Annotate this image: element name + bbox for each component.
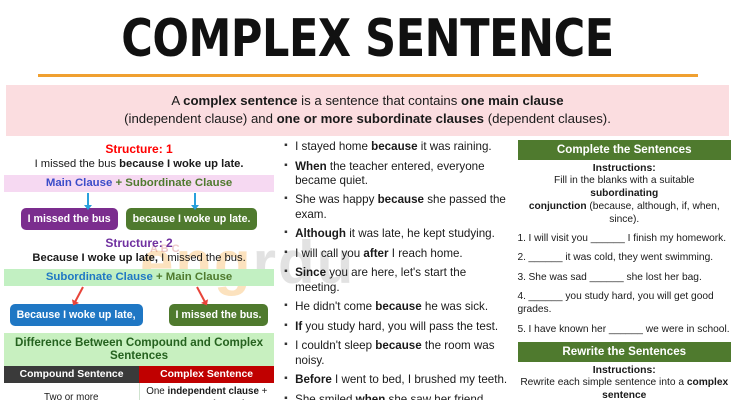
- complete-instructions-label: Instructions:: [518, 163, 732, 174]
- instr-a: Rewrite each simple sentence into a: [520, 377, 686, 388]
- rewrite-sentences-heading: Rewrite the Sentences: [518, 342, 732, 362]
- comparison-header-compound: Compound Sentence: [4, 366, 139, 383]
- structure-2-sentence-plain: I missed the bus.: [158, 252, 246, 264]
- item-text: ______ it was cold, they went swimming.: [529, 252, 714, 263]
- example-conjunction: Since: [295, 266, 326, 279]
- rewrite-instructions-label: Instructions:: [518, 365, 732, 376]
- worksheet-page: engrdu A B C COMPLEX SENTENCE A complex …: [0, 0, 735, 400]
- main-clause-box: I missed the bus: [21, 208, 118, 230]
- example-post: I went to bed, I brushed my teeth.: [332, 373, 507, 386]
- table-row: Two or moreindependent clauses One indep…: [4, 383, 274, 400]
- subordinate-clause-box: because I woke up late.: [126, 208, 258, 230]
- examples-list: I stayed home because it was raining. Wh…: [284, 140, 511, 400]
- list-item: She smiled when she saw her friend.: [284, 393, 511, 400]
- title-underline: [38, 74, 698, 77]
- item-text: She was sad ______ she lost her bag.: [529, 272, 702, 283]
- structure-2-bar-left: Subordinate Clause: [46, 271, 153, 283]
- item-text: ______ you study hard, you will get good…: [518, 291, 714, 315]
- cell-text-b: independent clause: [167, 386, 258, 397]
- item-text: I have known her ______ we were in schoo…: [529, 324, 730, 335]
- list-item: He didn't come because he was sick.: [284, 300, 511, 314]
- example-post: he was sick.: [422, 300, 488, 313]
- item-number: 1.: [518, 232, 529, 245]
- definition-line2-c: (dependent clauses).: [484, 111, 611, 126]
- arrow-down-icon: [87, 193, 89, 206]
- definition-line1-a: A: [171, 93, 183, 108]
- structure-2-boxes: Because I woke up late, I missed the bus…: [4, 304, 274, 326]
- example-pre: I couldn't sleep: [295, 339, 375, 352]
- example-conjunction: Before: [295, 373, 332, 386]
- example-conjunction: because: [375, 300, 421, 313]
- structure-1-bar-plus: +: [112, 177, 125, 189]
- structure-2-heading: Structure: 2: [4, 236, 274, 250]
- list-item: I will call you after I reach home.: [284, 247, 511, 261]
- list-item: She was happy because she passed the exa…: [284, 193, 511, 222]
- list-item: Since you are here, let's start the meet…: [284, 266, 511, 295]
- example-post: it was raining.: [418, 140, 492, 153]
- instr-d: (because, although, if, when, since).: [587, 201, 720, 225]
- example-pre: I will call you: [295, 247, 363, 260]
- example-conjunction: When: [295, 160, 327, 173]
- arrow-down-icon: [194, 193, 196, 206]
- example-pre: I stayed home: [295, 140, 371, 153]
- example-pre: He didn't come: [295, 300, 375, 313]
- structure-2-formula-bar: Subordinate Clause + Main Clause: [4, 269, 274, 286]
- item-text: I will visit you ______ I finish my home…: [529, 233, 727, 244]
- list-item: If you study hard, you will pass the tes…: [284, 320, 511, 334]
- comparison-table: Compound Sentence Complex Sentence Two o…: [4, 366, 274, 400]
- body-columns: Structure: 1 I missed the bus because I …: [0, 140, 735, 400]
- list-item[interactable]: 2.______ it was cold, they went swimming…: [518, 251, 732, 264]
- main-clause-box-2: I missed the bus.: [169, 304, 269, 326]
- list-item: I couldn't sleep because the room was no…: [284, 339, 511, 368]
- item-number: 2.: [518, 251, 529, 264]
- list-item[interactable]: 1.I will visit you ______ I finish my ho…: [518, 232, 732, 245]
- list-item: Before I went to bed, I brushed my teeth…: [284, 373, 511, 387]
- definition-line2-b: one or more subordinate clauses: [277, 111, 484, 126]
- item-number: 4.: [518, 290, 529, 303]
- structure-2-bar-plus: +: [153, 271, 166, 283]
- page-title: COMPLEX SENTENCE: [29, 10, 705, 68]
- structure-1-formula-bar: Main Clause + Subordinate Clause: [4, 175, 274, 192]
- example-post: I reach home.: [389, 247, 463, 260]
- example-pre: She was happy: [295, 193, 378, 206]
- column-exercises: Complete the Sentences Instructions: Fil…: [518, 140, 732, 400]
- structure-2-arrows: [4, 286, 274, 304]
- instr-b: subordinating: [590, 188, 658, 199]
- item-number: 5.: [518, 323, 529, 336]
- cell-text-a: Two or more: [44, 392, 98, 400]
- structure-1-boxes: I missed the bus because I woke up late.: [4, 208, 274, 230]
- comparison-cell-complex: One independent clause +one or more depe…: [139, 383, 274, 400]
- definition-box: A complex sentence is a sentence that co…: [6, 85, 729, 136]
- definition-line1-c: is a sentence that contains: [297, 93, 460, 108]
- list-item[interactable]: 3.She was sad ______ she lost her bag.: [518, 271, 732, 284]
- list-item: When the teacher entered, everyone becam…: [284, 160, 511, 189]
- example-conjunction: Although: [295, 227, 346, 240]
- title-block: COMPLEX SENTENCE: [0, 0, 735, 77]
- structure-2-bar-right: Main Clause: [166, 271, 232, 283]
- structure-2-sentence-bold: Because I woke up late,: [32, 252, 158, 264]
- structure-1-sentence-bold: because I woke up late.: [119, 158, 243, 170]
- comparison-title: Difference Between Compound and Complex …: [4, 333, 274, 366]
- example-conjunction: because: [378, 193, 424, 206]
- complete-sentences-heading: Complete the Sentences: [518, 140, 732, 160]
- structure-1-arrows: [4, 192, 274, 208]
- structure-1-bar-right: Subordinate Clause: [125, 177, 232, 189]
- example-post: you study hard, you will pass the test.: [302, 320, 498, 333]
- structure-1-bar-left: Main Clause: [46, 177, 112, 189]
- item-number: 3.: [518, 271, 529, 284]
- fill-in-blanks-list: 1.I will visit you ______ I finish my ho…: [518, 232, 732, 336]
- definition-line1-d: one main clause: [461, 93, 564, 108]
- arrow-diagonal-icon: [196, 287, 206, 303]
- complete-instructions-text: Fill in the blanks with a suitable subor…: [518, 174, 732, 226]
- structure-2-sentence: Because I woke up late, I missed the bus…: [4, 251, 274, 266]
- list-item[interactable]: 4.______ you study hard, you will get go…: [518, 290, 732, 316]
- structure-1-sentence-plain: I missed the bus: [35, 158, 120, 170]
- structure-1-sentence: I missed the bus because I woke up late.: [4, 157, 274, 172]
- list-item: Although it was late, he kept studying.: [284, 227, 511, 241]
- structure-1-heading: Structure: 1: [4, 142, 274, 156]
- column-examples: I stayed home because it was raining. Wh…: [280, 140, 511, 400]
- instr-a: Fill in the blanks with a suitable: [554, 175, 694, 186]
- comparison-header-complex: Complex Sentence: [139, 366, 274, 383]
- example-pre: She smiled: [295, 393, 356, 400]
- instr-c: conjunction: [529, 201, 587, 212]
- cell-text-a: One: [146, 386, 167, 397]
- definition-line2-a: (independent clause) and: [124, 111, 277, 126]
- example-post: she saw her friend.: [385, 393, 486, 400]
- arrow-diagonal-icon: [74, 287, 84, 303]
- example-conjunction: after: [363, 247, 388, 260]
- list-item[interactable]: 5.I have known her ______ we were in sch…: [518, 323, 732, 336]
- example-conjunction: because: [375, 339, 421, 352]
- comparison-cell-compound: Two or moreindependent clauses: [4, 383, 139, 400]
- example-conjunction: when: [356, 393, 386, 400]
- column-structures: Structure: 1 I missed the bus because I …: [4, 140, 274, 400]
- comparison-header-row: Compound Sentence Complex Sentence: [4, 366, 274, 383]
- definition-line1-b: complex sentence: [183, 93, 297, 108]
- list-item: I stayed home because it was raining.: [284, 140, 511, 154]
- example-conjunction: because: [371, 140, 417, 153]
- example-post: it was late, he kept studying.: [346, 227, 495, 240]
- rewrite-instructions-text: Rewrite each simple sentence into a comp…: [518, 376, 732, 400]
- cell-text-c: +: [259, 386, 267, 397]
